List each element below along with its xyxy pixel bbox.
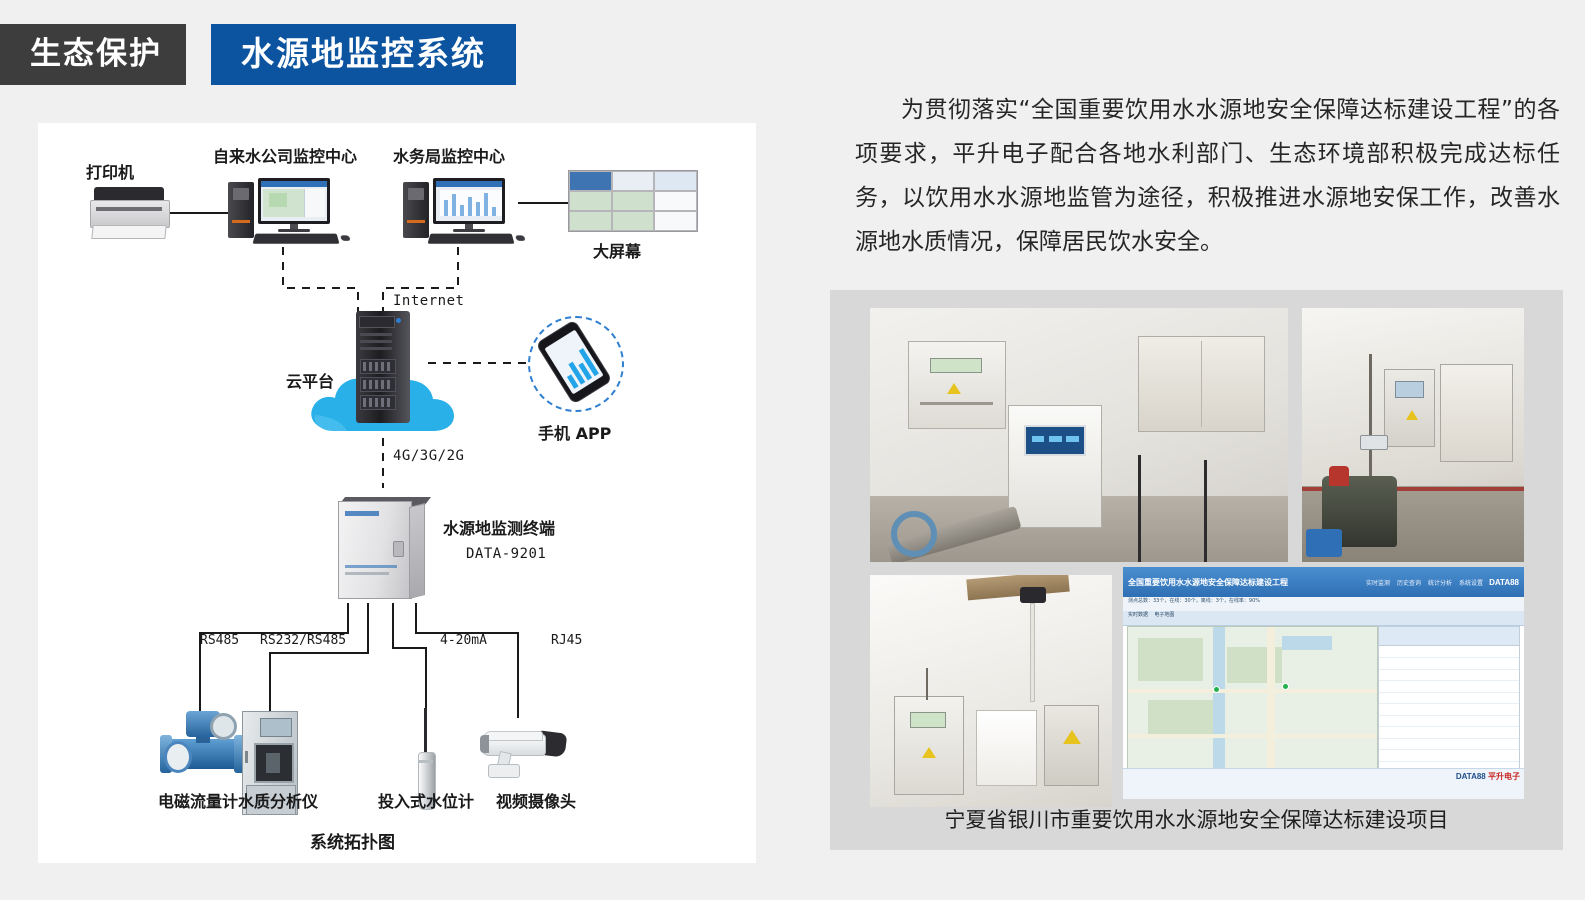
analyzer-window: [254, 743, 294, 783]
gallery-caption: 宁夏省银川市重要饮用水水源地安全保障达标建设项目: [830, 804, 1563, 834]
screen-titlebar: [261, 181, 327, 187]
label-terminal-name: 水源地监测终端: [443, 515, 555, 539]
pc-monitor-icon: [433, 178, 505, 224]
monitor-base: [453, 229, 485, 232]
software-nav-item[interactable]: 系统设置: [1459, 578, 1483, 587]
map-park: [1148, 700, 1223, 734]
workstation-water-bureau: [403, 178, 513, 248]
printer-tray: [91, 225, 166, 239]
slide-root: 生态保护 水源地监控系统: [0, 0, 1585, 900]
server-drive-bay: [360, 377, 396, 392]
server-panel: [359, 316, 395, 328]
table-row: [1379, 739, 1519, 751]
label-printer: 打印机: [86, 159, 134, 183]
software-data-table: [1378, 626, 1520, 769]
label-water-company-center: 自来水公司监控中心: [213, 143, 357, 167]
label-device-analyzer: 水质分析仪: [238, 788, 318, 812]
software-titlebar: 全国重要饮用水水源地安全保障达标建设工程 实时监测 历史查询 统计分析 系统设置…: [1123, 567, 1524, 597]
software-title: 全国重要饮用水水源地安全保障达标建设工程: [1123, 577, 1288, 588]
printer-body: [90, 200, 170, 228]
camera-base: [488, 764, 520, 778]
label-cloud-platform: 云平台: [286, 368, 334, 392]
page-title: 水源地监控系统: [211, 24, 516, 85]
page-header: 生态保护 水源地监控系统: [0, 24, 516, 85]
photo-flowmeter: [1360, 435, 1388, 450]
map-road: [1267, 627, 1274, 768]
label-uplink-bearer: 4G/3G/2G: [393, 448, 464, 464]
video-camera-icon: [480, 728, 566, 780]
wall-cell: [654, 191, 697, 211]
photo-rtu-box: [1384, 369, 1435, 447]
pc-screen: [261, 181, 327, 221]
brand-chinese: 平升电子: [1488, 772, 1520, 781]
map-park: [1138, 638, 1203, 680]
photo-wall-cabinet: [1138, 336, 1265, 432]
software-status-line: 测点总数：33个，在线：30个，离线：3个，在线率：90%: [1123, 597, 1524, 612]
software-brand: DATA88: [1489, 578, 1524, 587]
server-drive-bay: [360, 359, 396, 374]
intro-paragraph: 为贯彻落实“全国重要饮用水水源地安全保障达标建设工程”的各项要求，平升电子配合各…: [855, 88, 1560, 264]
table-row: [1379, 704, 1519, 716]
wall-cell: [654, 211, 697, 231]
screen-sidebar: [304, 189, 325, 217]
map-road: [1128, 734, 1377, 738]
photo-camera: [1020, 587, 1046, 603]
photo-rtu-display: [930, 358, 982, 374]
map-road: [1128, 689, 1377, 693]
table-row: [1379, 646, 1519, 658]
photo-wall-mounted-cabinet: [870, 575, 1112, 807]
topology-diagram: 打印机 自来水公司监控中心: [38, 123, 756, 863]
header-category-tag: 生态保护: [0, 24, 186, 85]
cabinet-logo: [345, 511, 379, 516]
software-nav-item[interactable]: 历史查询: [1397, 578, 1421, 587]
wall-cell: [569, 191, 612, 211]
pc-tower-icon: [228, 182, 254, 238]
cabinet-lock: [393, 541, 404, 557]
software-tab-strip: 实时数据 电子地图: [1123, 611, 1524, 626]
photo-valve-wheel: [891, 511, 937, 557]
label-device-camera: 视频摄像头: [496, 788, 576, 812]
software-nav: 实时监测 历史查询 统计分析 系统设置: [1366, 578, 1489, 587]
software-map-view[interactable]: [1127, 626, 1378, 769]
photo-conduit: [1204, 460, 1207, 562]
pc-screen: [436, 181, 502, 221]
wall-cell: [612, 171, 655, 191]
photo-hmi-panel: [1024, 425, 1087, 456]
software-nav-item[interactable]: 统计分析: [1428, 578, 1452, 587]
wall-cell: [654, 171, 697, 191]
pc-monitor-icon: [258, 178, 330, 224]
table-row: [1379, 658, 1519, 670]
server-vent: [360, 340, 392, 343]
flowmeter-dial: [210, 713, 237, 740]
photo-white-box: [976, 710, 1036, 786]
label-mobile-app: 手机 APP: [538, 420, 611, 444]
warning-triangle-icon: [947, 383, 961, 394]
sensor-cable: [424, 708, 427, 756]
warning-triangle-icon: [1063, 730, 1081, 744]
topology-diagram-panel: 打印机 自来水公司监控中心: [38, 123, 756, 863]
screen-titlebar: [436, 181, 502, 187]
server-led: [396, 318, 401, 323]
photo-rtu-display: [910, 712, 946, 728]
label-link-rj45: RJ45: [551, 633, 582, 648]
photo-rtu-box: [908, 341, 1006, 429]
photo-control-cabinet: [1008, 405, 1102, 529]
server-vent: [360, 347, 392, 350]
video-wall-icon: [568, 170, 698, 232]
table-row: [1379, 727, 1519, 739]
electromagnetic-flowmeter-icon: [160, 711, 246, 777]
map-station-pin[interactable]: [1213, 686, 1220, 693]
table-header: [1379, 627, 1519, 646]
analyzer-display: [260, 718, 292, 737]
camera-sunshade: [483, 731, 543, 741]
server-drive-bay: [360, 395, 396, 410]
photo-valve: [1329, 466, 1349, 486]
cabinet-label-line: [345, 565, 397, 568]
keyboard-icon: [253, 234, 340, 244]
analyzer-hinge: [245, 751, 248, 763]
software-footer-brand: DATA88 平升电子: [1456, 771, 1520, 782]
server-vent: [360, 333, 392, 336]
rtu-cabinet-icon: [338, 493, 424, 597]
photo-wall-cabinet: [1440, 364, 1513, 463]
table-row: [1379, 681, 1519, 693]
workstation-water-company: [228, 178, 338, 248]
table-row: [1379, 693, 1519, 705]
photo-conduit: [1138, 455, 1141, 562]
table-row: [1379, 716, 1519, 728]
cabinet-side: [409, 503, 425, 599]
flowmeter-bore: [164, 741, 192, 773]
wall-cell: [569, 211, 612, 231]
label-terminal-model: DATA-9201: [466, 546, 546, 562]
warning-triangle-icon: [1406, 410, 1418, 420]
label-device-flowmeter: 电磁流量计: [158, 788, 238, 812]
wall-cell: [612, 191, 655, 211]
screen-map: [263, 189, 307, 217]
warning-triangle-icon: [922, 747, 936, 758]
table-row: [1379, 670, 1519, 682]
label-water-bureau-center: 水务局监控中心: [393, 143, 505, 167]
label-link-4-20ma: 4-20mA: [440, 633, 487, 648]
software-tab[interactable]: 电子地图: [1154, 612, 1174, 618]
sensor-band: [419, 760, 433, 763]
photo-wellhead-installation: [1302, 308, 1524, 562]
photo-pump-room-cabinet: [870, 308, 1288, 562]
photo-rtu-nameplate: [920, 402, 993, 405]
photo-conduit: [1030, 603, 1035, 702]
software-nav-item[interactable]: 实时监测: [1366, 578, 1390, 587]
brand-latin: DATA88: [1456, 772, 1486, 781]
cloud-server-icon: [356, 311, 410, 423]
diagram-caption: 系统拓扑图: [310, 828, 395, 853]
wall-cell: [569, 171, 612, 191]
label-link-rs232-rs485: RS232/RS485: [260, 633, 346, 648]
label-link-rs485: RS485: [200, 633, 239, 648]
label-big-screen: 大屏幕: [593, 238, 641, 262]
table-row: [1379, 750, 1519, 762]
photo-blue-flange: [1306, 529, 1342, 557]
photo-antenna: [926, 668, 928, 700]
label-device-level-sensor: 投入式水位计: [378, 788, 474, 812]
camera-lens: [480, 735, 489, 753]
photo-rtu-display: [1395, 381, 1424, 398]
photo-power-cabinet: [1044, 705, 1099, 786]
label-internet: Internet: [393, 293, 464, 309]
printer-icon: [90, 187, 168, 239]
monitor-base: [278, 229, 310, 232]
keyboard-icon: [428, 234, 515, 244]
map-river: [1282, 636, 1332, 650]
project-photo-gallery: 全国重要饮用水水源地安全保障达标建设工程 实时监测 历史查询 统计分析 系统设置…: [830, 290, 1563, 850]
cabinet-label-line: [345, 572, 389, 575]
map-river: [1213, 627, 1225, 768]
printer-slot: [96, 207, 162, 211]
photo-rtu-box: [894, 696, 964, 795]
software-footer: DATA88 平升电子: [1123, 768, 1524, 799]
pc-tower-icon: [403, 182, 429, 238]
wall-cell: [612, 211, 655, 231]
screen-chart: [440, 190, 502, 216]
photo-software-screenshot: 全国重要饮用水水源地安全保障达标建设工程 实时监测 历史查询 统计分析 系统设置…: [1123, 567, 1524, 799]
software-tab[interactable]: 实时数据: [1128, 612, 1148, 618]
